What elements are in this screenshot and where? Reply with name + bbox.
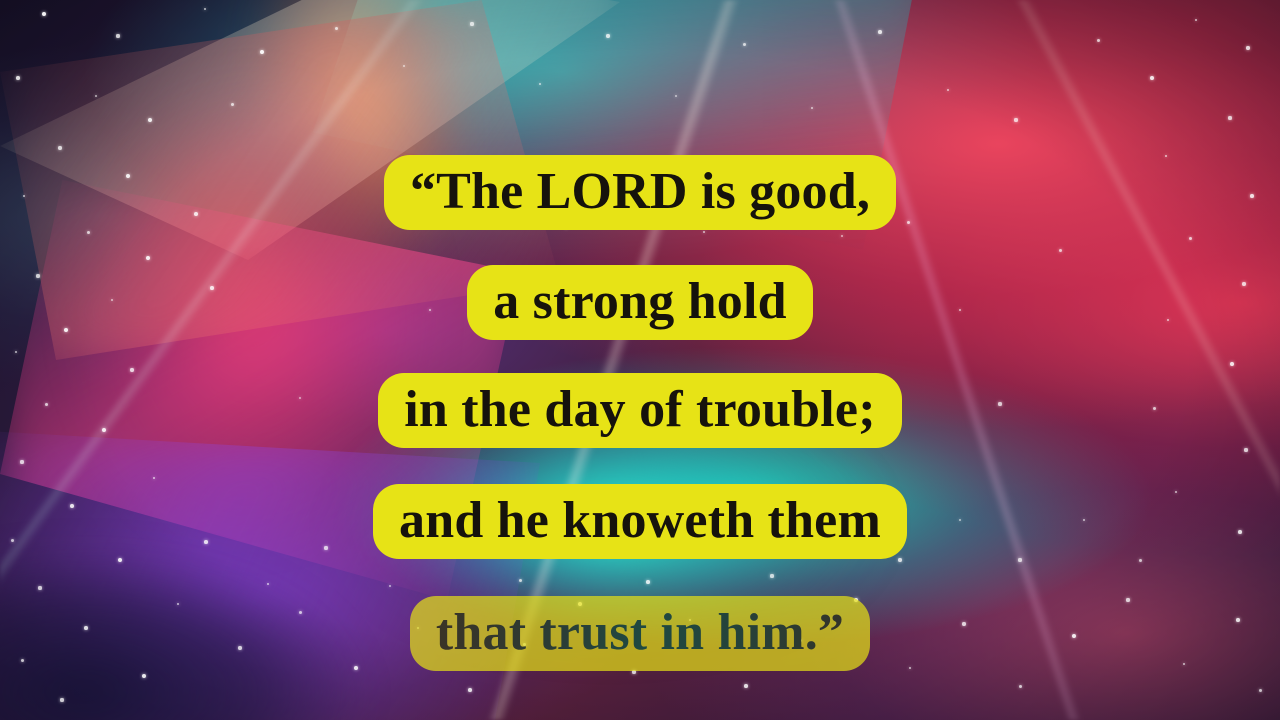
quote-line-5: that trust in him.”: [410, 596, 870, 671]
quote-card-canvas: “The LORD is good, a strong hold in the …: [0, 0, 1280, 720]
quote-line-5-text: that trust in him.”: [436, 604, 844, 661]
quote-line-2: a strong hold: [467, 265, 813, 340]
quote-line-4: and he knoweth them: [373, 484, 907, 559]
quote-line-1: “The LORD is good,: [384, 155, 896, 230]
scripture-quote: “The LORD is good, a strong hold in the …: [0, 0, 1280, 720]
quote-line-3: in the day of trouble;: [378, 373, 901, 448]
